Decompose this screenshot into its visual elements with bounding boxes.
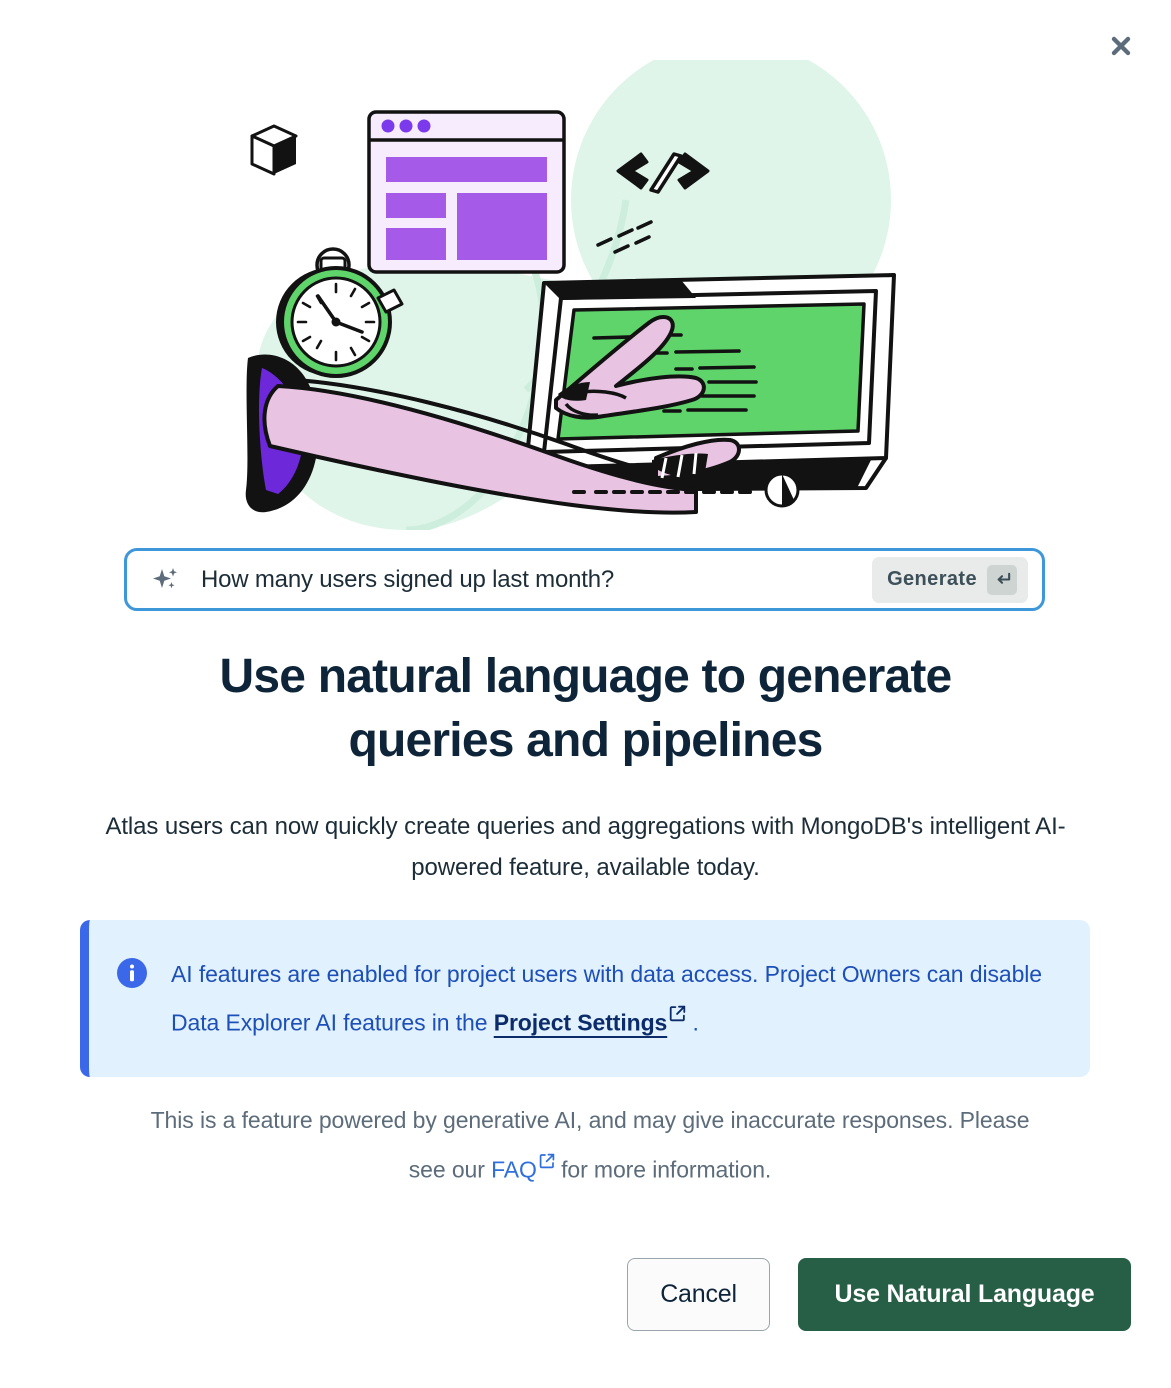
page-title: Use natural language to generate queries… xyxy=(100,645,1071,773)
page-subtitle: Atlas users can now quickly create queri… xyxy=(90,806,1081,888)
natural-language-input[interactable]: How many users signed up last month? xyxy=(201,566,872,594)
modal-footer: Cancel Use Natural Language xyxy=(627,1258,1131,1331)
ai-disclaimer: This is a feature powered by generative … xyxy=(150,1100,1030,1191)
illustration-svg xyxy=(226,60,946,530)
external-link-icon xyxy=(539,1141,555,1182)
info-banner: AI features are enabled for project user… xyxy=(80,920,1090,1077)
cancel-button[interactable]: Cancel xyxy=(627,1258,770,1331)
generate-button[interactable]: Generate xyxy=(872,557,1028,603)
info-icon xyxy=(117,958,147,993)
generate-label: Generate xyxy=(887,568,977,591)
natural-language-input-row[interactable]: How many users signed up last month? Gen… xyxy=(124,548,1045,611)
subtitle-line-1: Atlas users can now quickly create queri… xyxy=(105,813,923,840)
use-natural-language-button[interactable]: Use Natural Language xyxy=(798,1258,1131,1331)
info-text-after: . xyxy=(686,1010,699,1036)
sparkle-icon xyxy=(151,565,181,595)
faq-link[interactable]: FAQ xyxy=(491,1157,537,1183)
headline-line-1: Use natural language to generate xyxy=(220,650,952,703)
headline-line-2: queries and pipelines xyxy=(348,714,822,767)
enter-key-icon xyxy=(987,565,1017,595)
close-icon xyxy=(1106,31,1136,61)
cube-icon xyxy=(252,126,296,174)
hero-illustration xyxy=(0,60,1171,540)
crescent-circle-icon xyxy=(766,474,798,506)
project-settings-link[interactable]: Project Settings xyxy=(494,1010,668,1036)
browser-window-illustration xyxy=(369,112,564,272)
disclaimer-text-after: for more information. xyxy=(555,1157,771,1183)
external-link-icon xyxy=(669,994,686,1034)
info-banner-text: AI features are enabled for project user… xyxy=(171,954,1060,1043)
natural-language-modal: How many users signed up last month? Gen… xyxy=(0,0,1171,1388)
